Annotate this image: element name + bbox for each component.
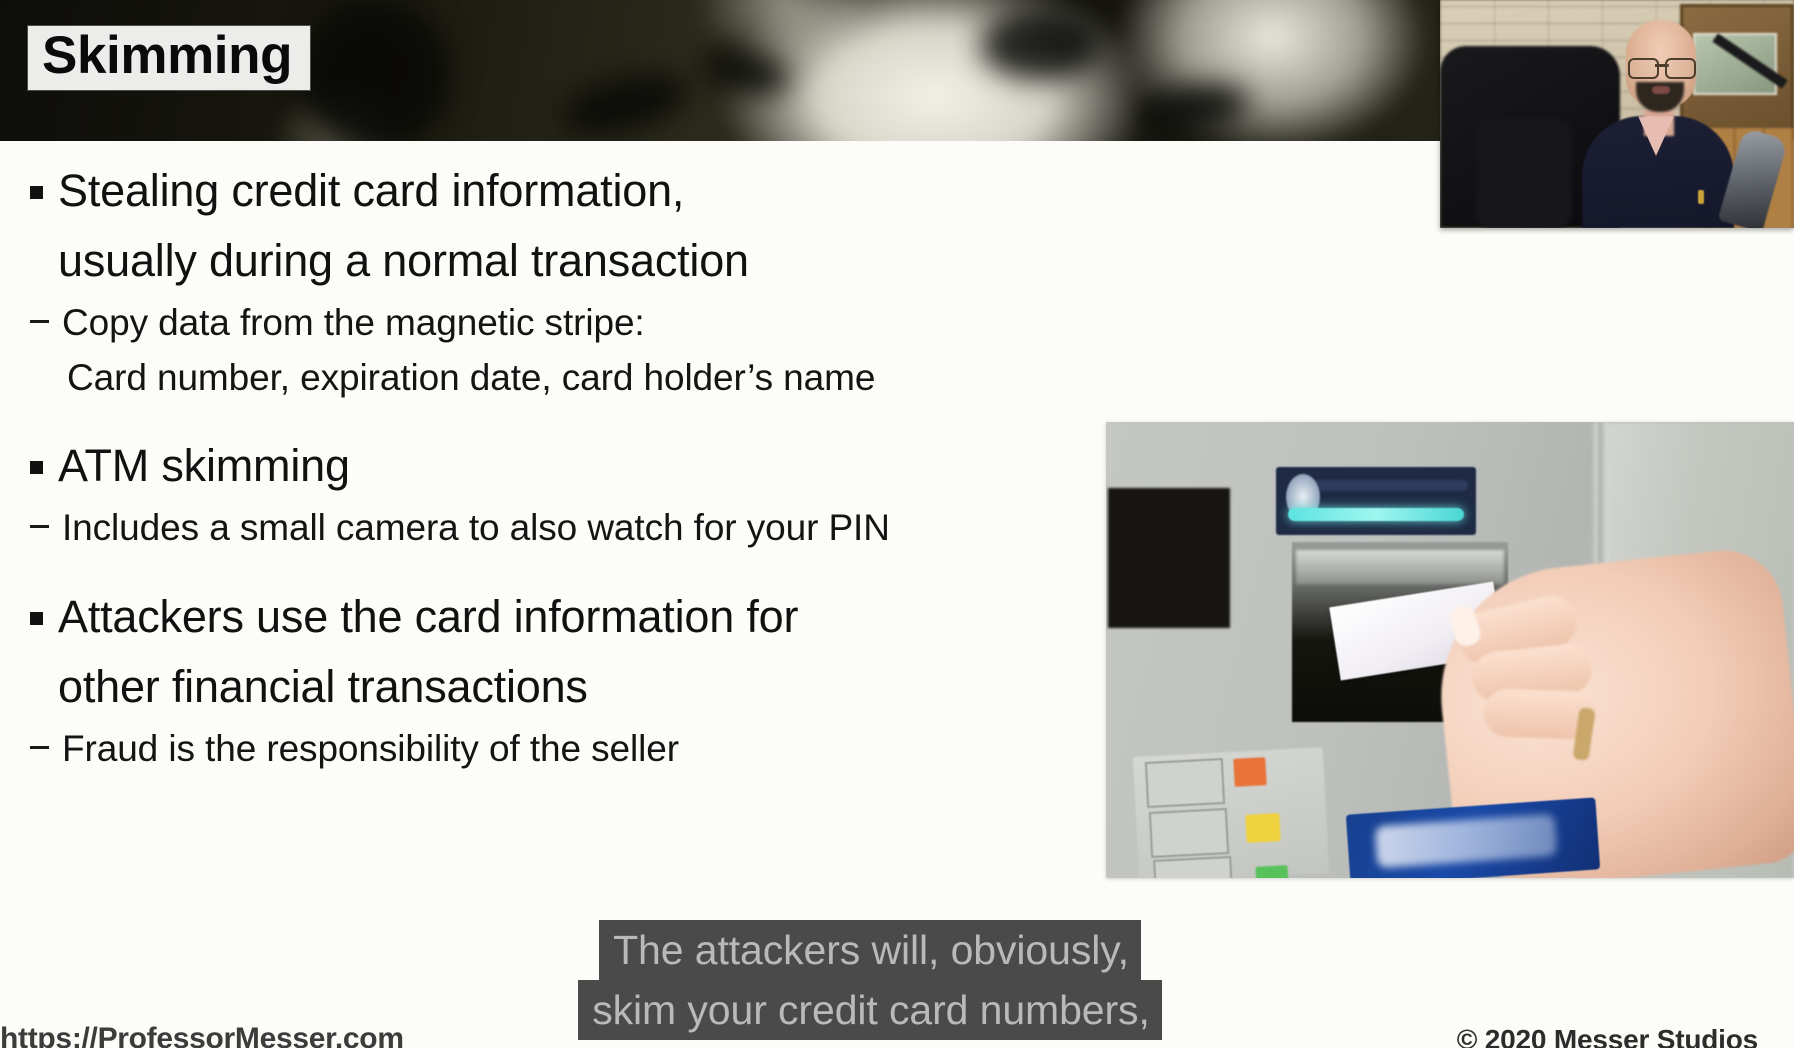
atm-dark-screen-panel <box>1108 488 1230 628</box>
square-bullet-icon <box>30 186 43 199</box>
atm-key <box>1149 808 1229 858</box>
footer-copyright: © 2020 Messer Studios <box>1457 1024 1758 1048</box>
caption-line: The attackers will, obviously, <box>599 920 1141 980</box>
webcam-shelf <box>1680 4 1794 140</box>
bullet-line: ATM skimming <box>58 431 1112 501</box>
square-bullet-icon <box>30 461 43 474</box>
bullet-item-level2: Copy data from the magnetic stripe: Card… <box>22 296 1112 405</box>
caption-line: skim your credit card numbers, <box>578 980 1162 1040</box>
slide-title-box: Skimming <box>28 26 310 90</box>
atm-indicator-orange <box>1233 757 1266 787</box>
page-title: Skimming <box>42 29 292 84</box>
glasses-lens-left <box>1628 58 1659 79</box>
bullet-item-level2: Includes a small camera to also watch fo… <box>22 501 1112 555</box>
glasses-icon <box>1628 58 1696 75</box>
spacer <box>22 405 1112 431</box>
bullet-item-level1: ATM skimming <box>22 431 1112 501</box>
bullet-item-level1: Stealing credit card information, usuall… <box>22 156 1112 296</box>
atm-skimming-photo <box>1106 422 1794 878</box>
bullet-line: Attackers use the card information for <box>58 582 1112 652</box>
slide-video-frame: Skimming Stealing credit card informatio… <box>0 0 1794 1048</box>
banner-blur-shape <box>300 0 450 141</box>
caption-line-2-wrap: skim your credit card numbers, <box>500 980 1240 1040</box>
spacer <box>22 556 1112 582</box>
dash-bullet-icon <box>30 320 49 323</box>
bullet-line: Fraud is the responsibility of the selle… <box>62 722 1112 776</box>
dash-bullet-icon <box>30 746 49 749</box>
square-bullet-icon <box>30 612 43 625</box>
glasses-lens-right <box>1665 58 1696 79</box>
subtitle-caption: The attackers will, obviously, skim your… <box>500 920 1240 1048</box>
caption-line-1-wrap: The attackers will, obviously, <box>500 920 1240 980</box>
dash-bullet-icon <box>30 525 49 528</box>
webcam-office-chair-base <box>1476 118 1572 228</box>
bullet-line: Card number, expiration date, card holde… <box>62 351 1112 405</box>
presenter-webcam-overlay[interactable] <box>1440 0 1794 228</box>
atm-key <box>1145 758 1225 808</box>
webcam-shirt-logo <box>1698 190 1704 204</box>
atm-reader-inner <box>1302 480 1468 491</box>
bullet-line: Includes a small camera to also watch fo… <box>62 501 1112 555</box>
atm-card-slot-lip <box>1296 550 1504 584</box>
atm-reader-led-strip <box>1288 508 1464 521</box>
webcam-presenter-mouth <box>1652 86 1670 94</box>
atm-indicator-green <box>1255 865 1288 878</box>
bullet-item-level1: Attackers use the card information for o… <box>22 582 1112 722</box>
bullet-line: usually during a normal transaction <box>58 226 1112 296</box>
footer-website-url: https://ProfessorMesser.com <box>0 1022 404 1048</box>
bullet-line: Copy data from the magnetic stripe: <box>62 296 1112 350</box>
atm-indicator-yellow <box>1245 813 1280 843</box>
banner-blur-shape <box>980 10 1100 80</box>
bullet-item-level2: Fraud is the responsibility of the selle… <box>22 722 1112 776</box>
bullet-line: Stealing credit card information, <box>58 156 1112 226</box>
bullet-line: other financial transactions <box>58 652 1112 722</box>
bullet-list: Stealing credit card information, usuall… <box>22 156 1112 776</box>
atm-key <box>1153 856 1233 878</box>
